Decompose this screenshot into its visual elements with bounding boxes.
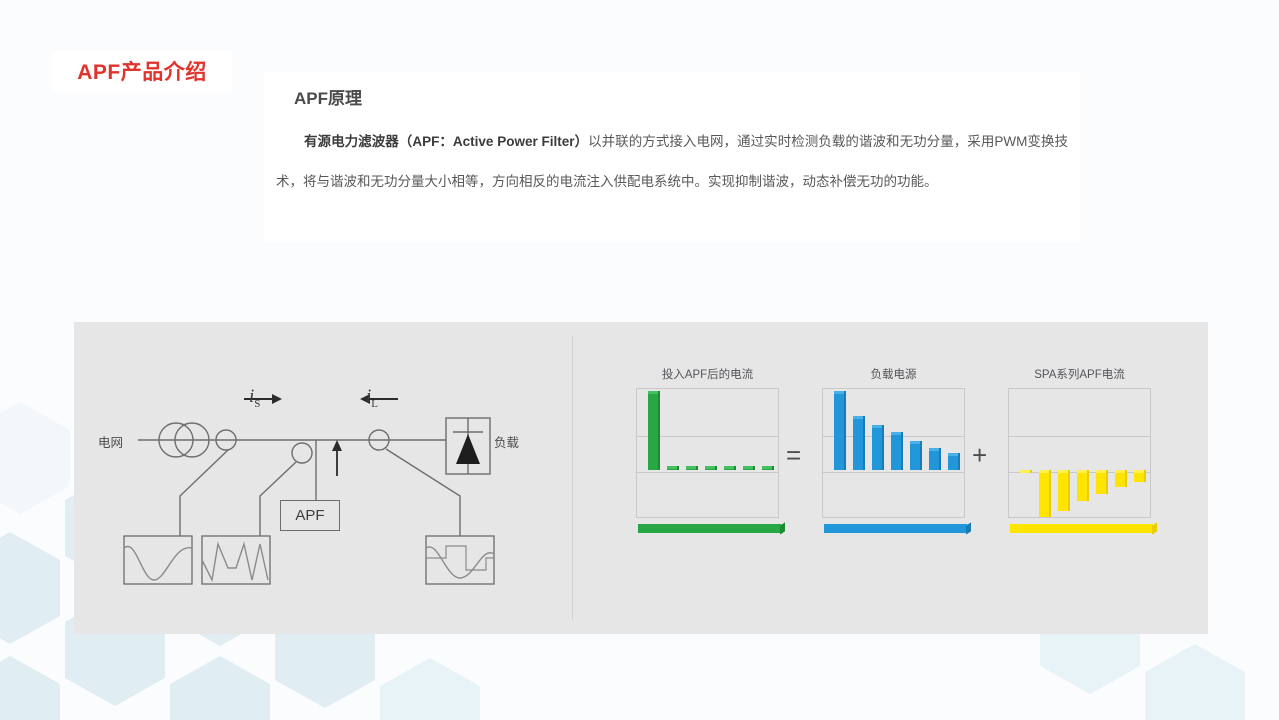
chart-bar-cap xyxy=(872,425,882,428)
chart-bar-cap xyxy=(929,448,939,451)
chart-bar-cap xyxy=(891,432,901,435)
label-grid: 电网 xyxy=(98,432,123,451)
chart-bar-cap xyxy=(1039,470,1049,473)
chart-base-cap xyxy=(780,522,785,534)
panel-divider xyxy=(572,336,573,620)
chart-gridline xyxy=(637,472,778,473)
chart-plot-1 xyxy=(822,388,965,518)
section-badge: APF产品介绍 xyxy=(52,50,232,92)
chart-bar xyxy=(1134,470,1146,483)
chart-bar xyxy=(929,448,941,470)
chart-bar-cap xyxy=(762,466,772,469)
label-is-subscript: S xyxy=(254,398,260,410)
chart-gridline xyxy=(1009,436,1150,437)
label-source-current: iS xyxy=(249,386,260,410)
chart-title-1: 负载电源 xyxy=(822,366,965,380)
clipped-wave-icon xyxy=(426,536,494,584)
chart-plot-0 xyxy=(636,388,779,518)
chart-bar-cap xyxy=(1077,470,1087,473)
chart-bar xyxy=(1115,470,1127,487)
chart-bar xyxy=(853,416,865,470)
label-load-current: iL xyxy=(366,386,378,410)
chart-bar-cap xyxy=(686,466,696,469)
chart-bar xyxy=(743,466,755,470)
label-il-subscript: L xyxy=(371,398,378,410)
circuit-schematic-svg xyxy=(94,348,564,610)
ct-sensor-apf xyxy=(292,443,312,463)
chart-bar-cap xyxy=(853,416,863,419)
chart-base-cap xyxy=(1152,522,1157,534)
chart-bar xyxy=(1020,470,1032,473)
chart-bar xyxy=(1039,470,1051,517)
chart-bar xyxy=(762,466,774,470)
arrow-right-head xyxy=(272,394,282,404)
chart-bar-cap xyxy=(948,453,958,456)
intro-title: APF原理 xyxy=(294,84,362,109)
chart-bar xyxy=(667,466,679,470)
label-load: 负载 xyxy=(494,432,519,451)
chart-title-0: 投入APF后的电流 xyxy=(636,366,779,380)
section-badge-label: APF产品介绍 xyxy=(77,56,207,86)
chart-bar xyxy=(1096,470,1108,494)
chart-bar-cap xyxy=(1115,470,1125,473)
arrow-up-head xyxy=(332,440,342,451)
chart-bar xyxy=(648,391,660,470)
chart-bar xyxy=(872,425,884,470)
chart-bar-cap xyxy=(705,466,715,469)
circuit-diagram: 电网 负载 iS iL APF xyxy=(94,348,564,610)
operator-equals: = xyxy=(786,440,801,471)
chart-gridline xyxy=(823,472,964,473)
chart-plot-2 xyxy=(1008,388,1151,518)
sine-wave-icon xyxy=(124,536,192,584)
chart-bar xyxy=(1058,470,1070,511)
chart-bar-cap xyxy=(743,466,753,469)
chart-block-yellow: SPA系列APF电流 xyxy=(1008,366,1151,518)
chart-bar xyxy=(705,466,717,470)
chart-bar-cap xyxy=(1020,470,1030,473)
chart-bar-cap xyxy=(667,466,677,469)
intro-card: APF原理 有源电力滤波器（APF：Active Power Filter）以并… xyxy=(264,72,1080,242)
intro-strong-lead: 有源电力滤波器（APF：Active Power Filter） xyxy=(304,134,588,149)
charts-area: 投入APF后的电流 = 负载电源 + SPA系列APF电流 xyxy=(594,366,1194,596)
chart-bar xyxy=(834,391,846,470)
chart-bar-cap xyxy=(648,391,658,394)
chart-bar-cap xyxy=(910,441,920,444)
chart-block-green: 投入APF后的电流 xyxy=(636,366,779,518)
operator-plus: + xyxy=(972,440,987,471)
apf-box-label: APF xyxy=(295,507,324,524)
chart-bar-cap xyxy=(834,391,844,394)
chart-bar xyxy=(686,466,698,470)
intro-body: 有源电力滤波器（APF：Active Power Filter）以并联的方式接入… xyxy=(276,122,1068,202)
chart-bar xyxy=(910,441,922,469)
chart-base-0 xyxy=(638,524,781,533)
chart-block-blue: 负载电源 xyxy=(822,366,965,518)
chart-base-cap xyxy=(966,522,971,534)
distorted-wave-icon xyxy=(202,536,270,584)
chart-base-2 xyxy=(1010,524,1153,533)
chart-bar-cap xyxy=(1134,470,1144,473)
chart-bar xyxy=(948,453,960,470)
apf-box: APF xyxy=(280,500,340,531)
chart-bar xyxy=(1077,470,1089,502)
chart-bar-cap xyxy=(1096,470,1106,473)
chart-bar xyxy=(724,466,736,470)
chart-title-2: SPA系列APF电流 xyxy=(1008,366,1151,380)
chart-base-1 xyxy=(824,524,967,533)
chart-bar xyxy=(891,432,903,470)
chart-bar-cap xyxy=(1058,470,1068,473)
rectifier-diode-icon xyxy=(456,434,480,464)
chart-bar-cap xyxy=(724,466,734,469)
diagram-panel: 电网 负载 iS iL APF 投入APF后的电流 = 负载电源 + SPA系列… xyxy=(74,322,1208,634)
